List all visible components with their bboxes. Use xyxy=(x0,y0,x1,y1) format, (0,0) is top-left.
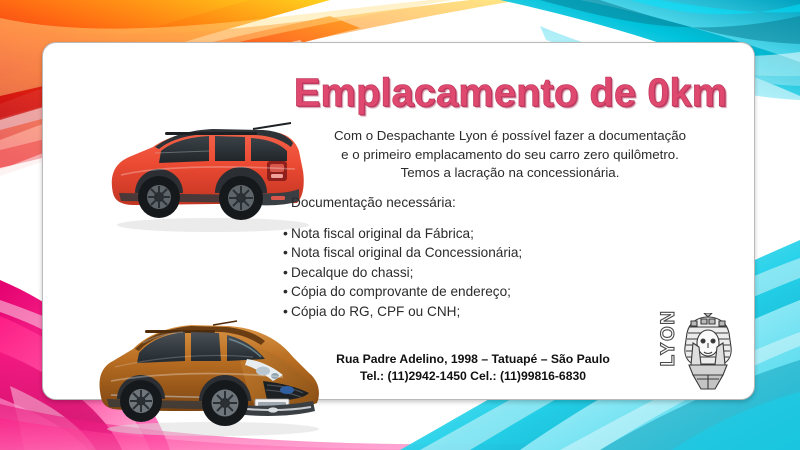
company-logo: LYON xyxy=(635,311,740,393)
bullet-icon: • xyxy=(283,284,291,298)
contact-footer: Rua Padre Adelino, 1998 – Tatuapé – São … xyxy=(293,351,653,384)
list-item: •Nota fiscal original da Fábrica; xyxy=(283,224,522,243)
pharaoh-emblem-artwork xyxy=(677,313,739,391)
list-item: •Cópia do RG, CPF ou CNH; xyxy=(283,302,522,321)
documents-list: •Nota fiscal original da Fábrica; •Nota … xyxy=(283,224,522,321)
list-item-label: Nota fiscal original da Fábrica; xyxy=(291,226,474,241)
lead-line-2: e o primeiro emplacamento do seu carro z… xyxy=(275,146,745,165)
list-item: •Decalque do chassi; xyxy=(283,263,522,282)
bullet-icon: • xyxy=(283,304,291,318)
content-card: Emplacamento de 0km Com o Despachante Ly… xyxy=(42,42,755,400)
page-title: Emplacamento de 0km xyxy=(278,71,743,116)
poster-canvas: Emplacamento de 0km Com o Despachante Ly… xyxy=(0,0,800,450)
lead-paragraph: Com o Despachante Lyon é possível fazer … xyxy=(275,127,745,183)
list-item-label: Nota fiscal original da Concessionária; xyxy=(291,245,522,260)
list-item-label: Cópia do comprovante de endereço; xyxy=(291,284,511,299)
lead-line-3: Temos a lacração na concessionária. xyxy=(275,164,745,183)
documents-heading: Documentação necessária: xyxy=(291,195,456,210)
lead-line-1: Com o Despachante Lyon é possível fazer … xyxy=(275,127,745,146)
address-line: Rua Padre Adelino, 1998 – Tatuapé – São … xyxy=(293,351,653,368)
bullet-icon: • xyxy=(283,265,291,279)
phone-line: Tel.: (11)2942-1450 Cel.: (11)99816-6830 xyxy=(293,368,653,385)
list-item: •Cópia do comprovante de endereço; xyxy=(283,282,522,301)
list-item: •Nota fiscal original da Concessionária; xyxy=(283,243,522,262)
bullet-icon: • xyxy=(283,226,291,240)
list-item-label: Cópia do RG, CPF ou CNH; xyxy=(291,304,460,319)
bullet-icon: • xyxy=(283,245,291,259)
pharaoh-sphinx-icon xyxy=(677,313,739,391)
list-item-label: Decalque do chassi; xyxy=(291,265,413,280)
